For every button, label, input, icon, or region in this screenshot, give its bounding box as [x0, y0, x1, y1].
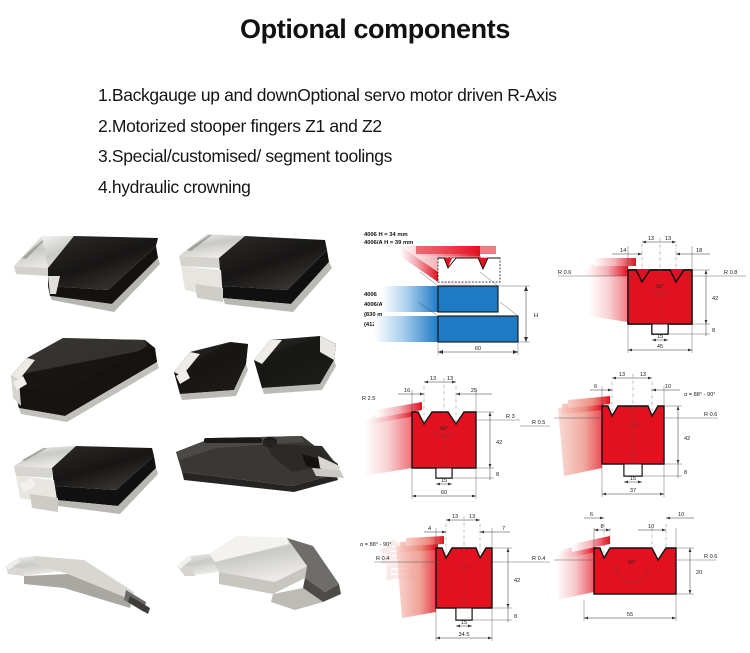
list-item: 4.hydraulic crowning	[98, 172, 698, 203]
dimension-label: 8	[600, 524, 603, 530]
dimension-label: 18	[696, 248, 702, 254]
dimension-label: 15	[461, 620, 467, 626]
tooling-photo-grid	[0, 222, 352, 647]
angle-label: 60°	[628, 560, 636, 566]
dimension-label: 60	[441, 490, 447, 496]
dimension-label: H	[534, 313, 538, 319]
diagram-punch-60: 60° R 2.5 R 3 R 0.5 13 13	[360, 364, 552, 504]
dimension-label: 14	[620, 248, 626, 254]
diagram-punch-55: 60° R 0.6 6 8	[554, 506, 750, 648]
angle-label: α = 88° - 90°	[684, 392, 716, 398]
dimension-label: 10	[665, 384, 671, 390]
dimension-label: 60	[475, 346, 481, 352]
angle-label: α = 88° - 90°	[360, 542, 392, 548]
dimension-label: 13	[447, 376, 453, 382]
diagram-punch-45: 60° R 0.6 R 0.8 13 13	[554, 224, 750, 362]
diagram-note: 4006 H = 34 mm	[364, 232, 408, 238]
dimension-label: 7	[502, 526, 505, 532]
tooling-dimension-diagrams: 鲁 4006 H = 34 mm 4006/A H = 39 mm 4006 4…	[356, 222, 750, 650]
dimension-label: 13	[640, 372, 646, 378]
radius-label: R 0.6	[704, 412, 717, 418]
diagram-label: 4006	[364, 292, 378, 298]
dimension-label: 42	[712, 296, 718, 302]
diagram-note: 4006/A H = 39 mm	[364, 240, 413, 246]
diagram-punch-37: α = 88° - 90° R 0.6 13 13 6	[554, 364, 750, 504]
dimension-label: 8	[496, 472, 499, 478]
radius-label: R 2.5	[362, 396, 375, 402]
radius-label: R 0.4	[376, 556, 389, 562]
dimension-label: 10	[648, 524, 654, 530]
dimension-label: 13	[430, 376, 436, 382]
dimension-label: 8	[684, 470, 687, 476]
dimension-label: 13	[619, 372, 625, 378]
dimension-label: 20	[696, 570, 702, 576]
tooling-photo-6	[172, 430, 344, 520]
tooling-photo-1	[8, 228, 168, 323]
dimension-label: 6	[594, 384, 597, 390]
dimension-label: 34.5	[459, 632, 470, 638]
radius-label: R 3	[506, 414, 515, 420]
dimension-label: 13	[452, 514, 458, 520]
dimension-label: 25	[471, 388, 477, 394]
dimension-label: 55	[627, 612, 633, 618]
dimension-label: 8	[514, 614, 517, 620]
dimension-label: 42	[684, 436, 690, 442]
diagram-die-4006: 鲁 4006 H = 34 mm 4006/A H = 39 mm 4006 4…	[360, 224, 552, 362]
dimension-label: 42	[496, 440, 502, 446]
radius-label: R 0.8	[724, 270, 737, 276]
dimension-label: 42	[514, 578, 520, 584]
tooling-photo-7	[4, 540, 169, 620]
tooling-photo-4	[170, 330, 340, 425]
dimension-label: 13	[665, 236, 671, 242]
tooling-photo-5	[6, 434, 166, 529]
dimension-label: 8	[712, 328, 715, 334]
dimension-label: 10	[678, 512, 684, 518]
dimension-label: 45	[657, 344, 663, 350]
dimension-label: 4	[428, 526, 431, 532]
diagram-label: 4006/A	[364, 302, 384, 308]
dimension-label: 15	[657, 334, 663, 340]
dimension-label: 13	[469, 514, 475, 520]
dimension-label: 6	[590, 512, 593, 518]
page-title: Optional components	[0, 14, 750, 45]
radius-label: R 0.6	[558, 270, 571, 276]
list-item: 3.Special/customised/ segment toolings	[98, 141, 698, 172]
document-page: Optional components 1.Backgauge up and d…	[0, 0, 750, 653]
dimension-label: 15	[630, 476, 636, 482]
dimension-label: 16	[404, 388, 410, 394]
optional-components-list: 1.Backgauge up and downOptional servo mo…	[98, 80, 698, 202]
list-item: 2.Motorized stooper fingers Z1 and Z2	[98, 111, 698, 142]
radius-label: R 0.5	[532, 420, 545, 426]
tooling-photo-8	[175, 532, 345, 622]
diagram-punch-345: 鲁 α = 88° - 90° R 0.4 R 0.4	[360, 506, 552, 648]
radius-label: R 0.4	[532, 556, 545, 562]
tooling-photo-3	[5, 330, 165, 425]
radius-label: R 0.6	[704, 554, 717, 560]
list-item: 1.Backgauge up and downOptional servo mo…	[98, 80, 698, 111]
dimension-label: 37	[630, 488, 636, 494]
dimension-label: 15	[441, 478, 447, 484]
tooling-photo-2	[175, 228, 340, 323]
dimension-label: 13	[648, 236, 654, 242]
